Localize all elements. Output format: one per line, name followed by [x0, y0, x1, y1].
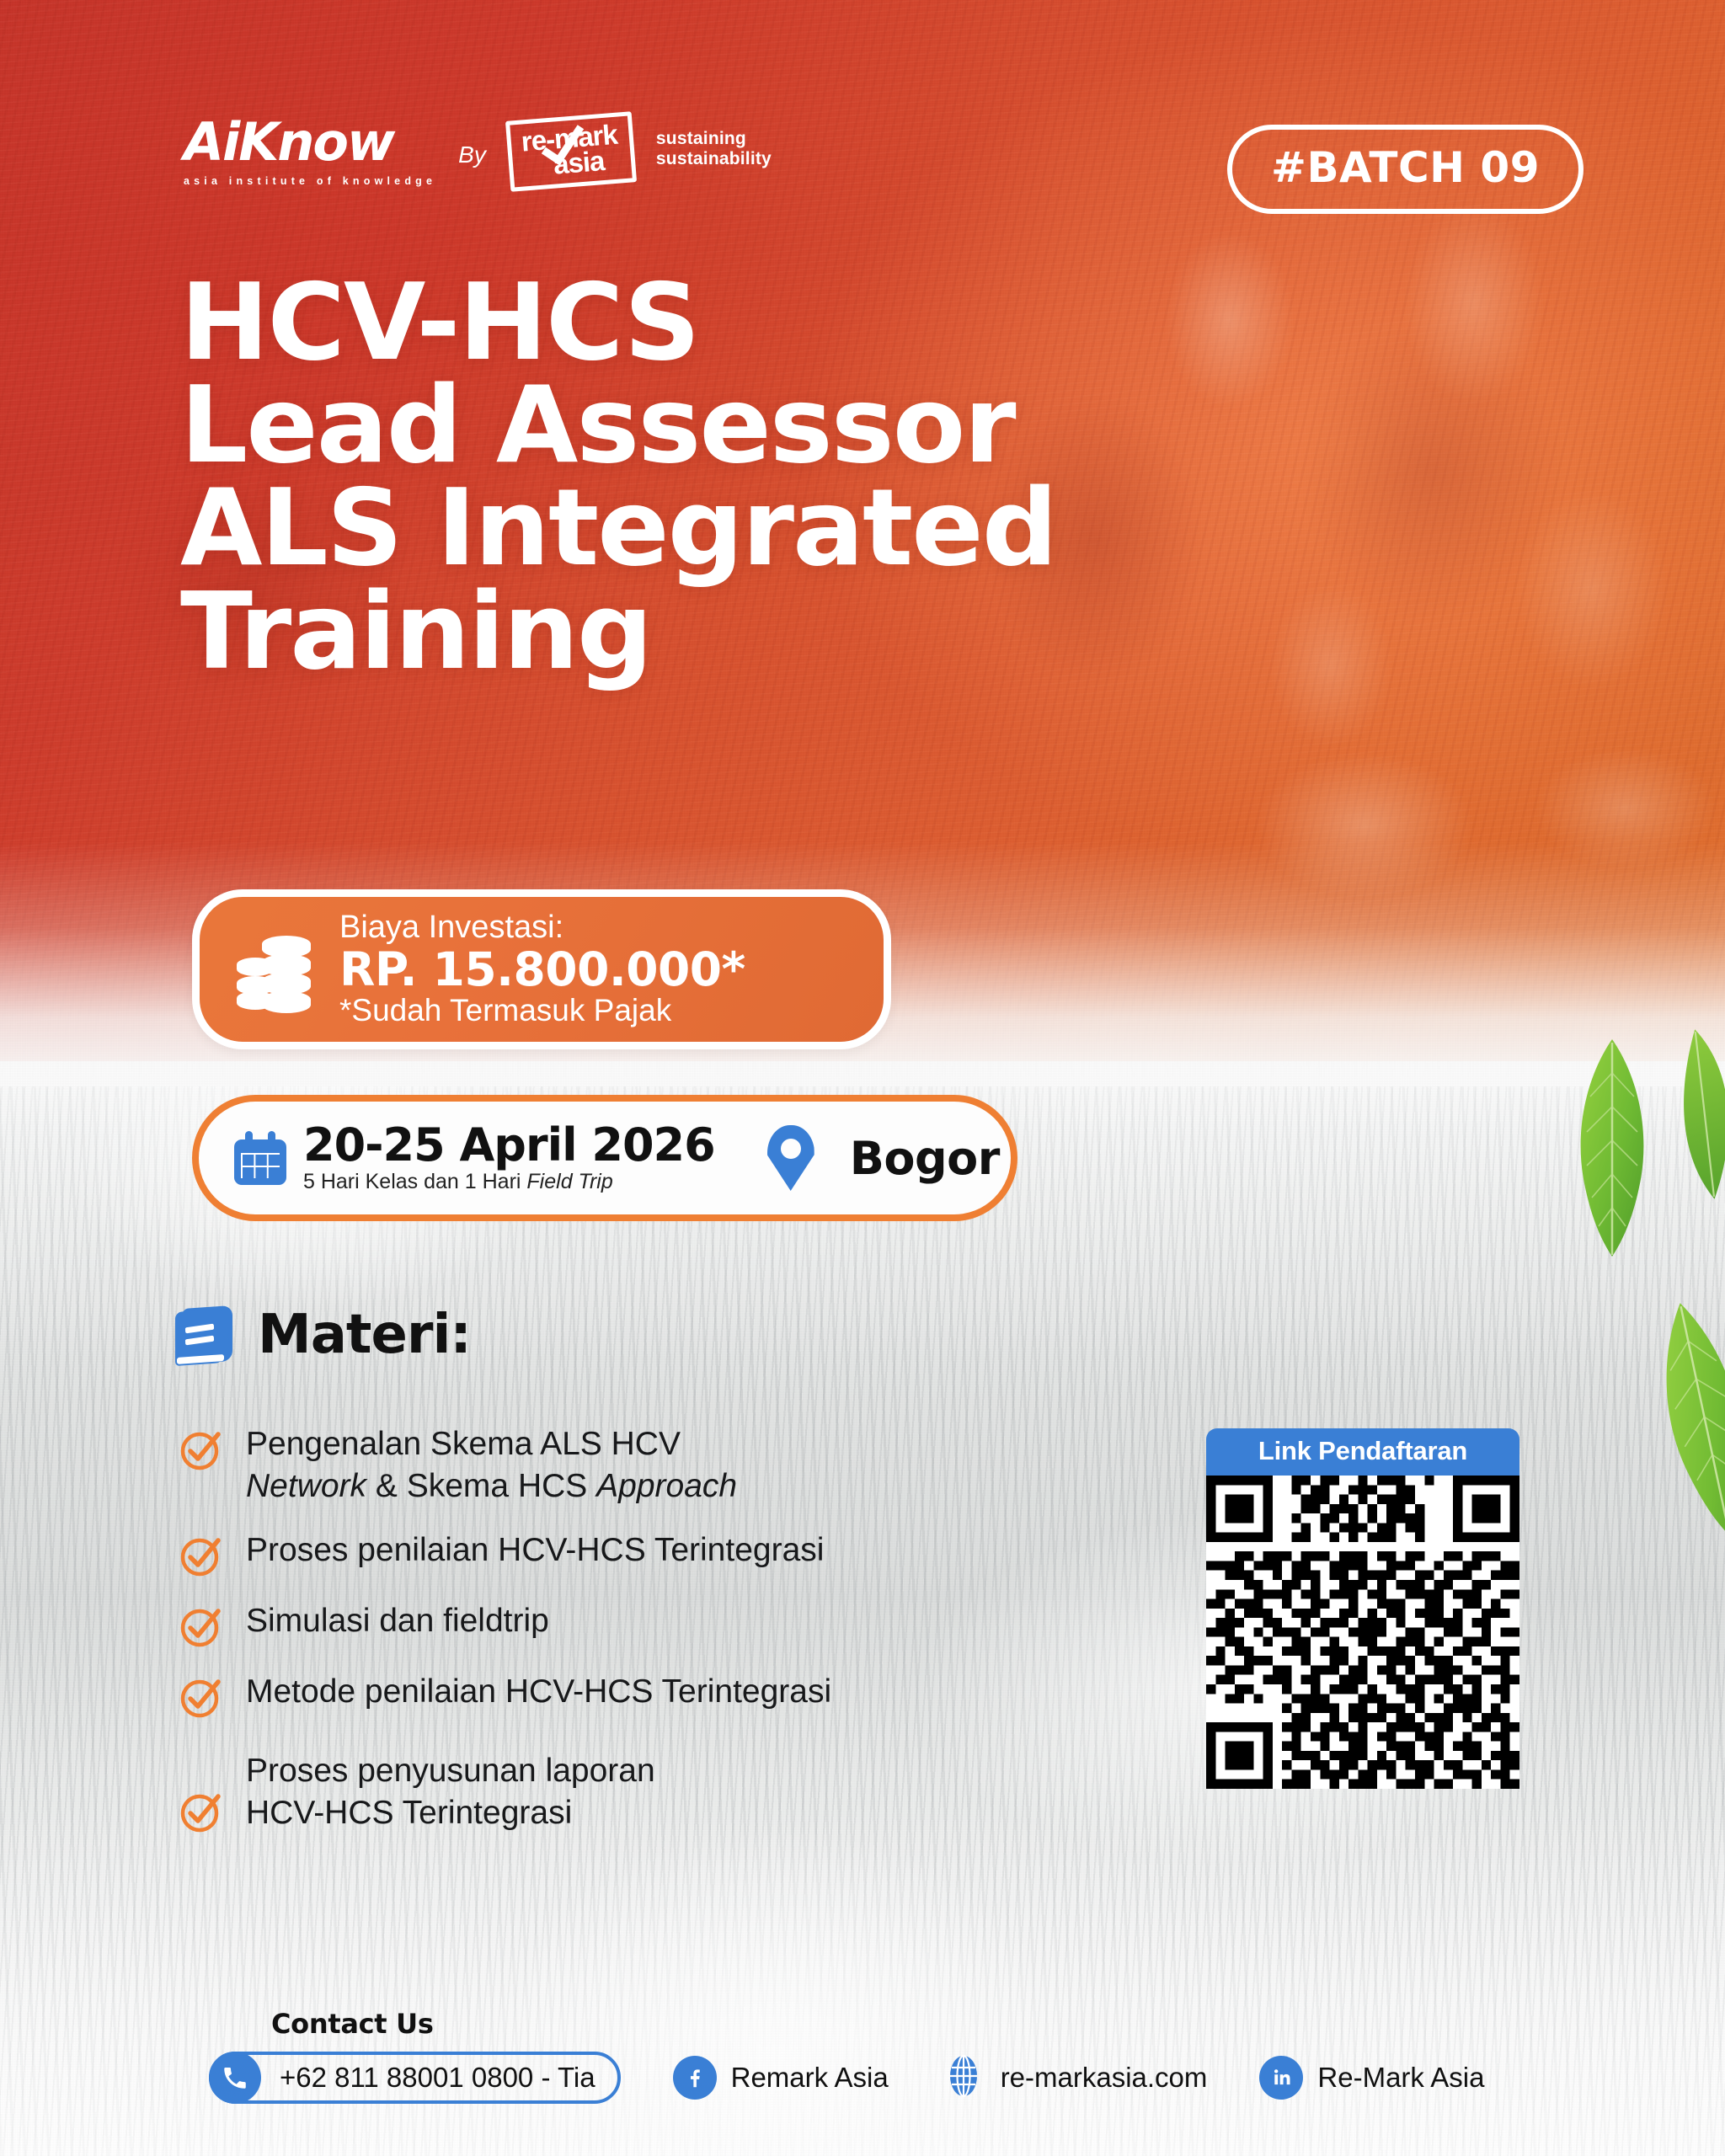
list-item-label: Metode penilaian HCV-HCS Terintegrasi	[246, 1671, 831, 1713]
batch-badge: #BATCH 09	[1227, 125, 1583, 214]
price-pill: Biaya Investasi: RP. 15.800.000* *Sudah …	[192, 889, 891, 1049]
registration-qr-block[interactable]: Link Pendaftaran	[1206, 1428, 1519, 1789]
linkedin-handle: Re-Mark Asia	[1317, 2062, 1484, 2094]
list-item: Proses penyusunan laporan HCV-HCS Terint…	[179, 1750, 1130, 1834]
schedule-text-block: 20-25 April 2026 5 Hari Kelas dan 1 Hari…	[303, 1122, 715, 1194]
facebook-icon	[673, 2056, 717, 2100]
price-amount: RP. 15.800.000*	[339, 945, 745, 994]
price-text-block: Biaya Investasi: RP. 15.800.000* *Sudah …	[339, 910, 745, 1027]
aiknow-wordmark: AiKnow	[184, 116, 436, 168]
contact-row: +62 811 88001 0800 - Tia Remark Asia re	[209, 2052, 1484, 2104]
check-circle-icon	[179, 1605, 222, 1649]
title-line-3: ALS Integrated	[180, 477, 1056, 579]
materi-heading: Materi:	[258, 1304, 471, 1366]
list-item-label: Proses penyusunan laporan HCV-HCS Terint…	[246, 1750, 655, 1834]
price-label: Biaya Investasi:	[339, 910, 745, 944]
page-title: HCV-HCS Lead Assessor ALS Integrated Tra…	[180, 271, 1056, 683]
check-circle-icon	[179, 1534, 222, 1578]
check-circle-icon	[179, 1428, 222, 1472]
globe-icon	[941, 2053, 986, 2103]
schedule-note-plain: 5 Hari Kelas dan 1 Hari	[303, 1170, 526, 1193]
poster-root: AiKnow asia institute of knowledge By re…	[0, 0, 1725, 2156]
list-item-label: Simulasi dan fieldtrip	[246, 1600, 549, 1642]
facebook-contact[interactable]: Remark Asia	[673, 2056, 889, 2100]
tagline-line-1: sustaining	[656, 129, 772, 149]
website-url: re-markasia.com	[1001, 2062, 1208, 2094]
item-text-a: Pengenalan Skema ALS HCV	[246, 1426, 681, 1462]
schedule-city: Bogor	[850, 1132, 1000, 1185]
item-text-b: Network	[246, 1468, 366, 1504]
remark-asia-logo: re-mark asia	[505, 111, 637, 191]
title-line-2: Lead Assessor	[180, 374, 1056, 477]
title-line-1: HCV-HCS	[180, 271, 1056, 374]
schedule-note: 5 Hari Kelas dan 1 Hari Field Trip	[303, 1170, 715, 1194]
check-circle-icon	[179, 1790, 222, 1834]
facebook-handle: Remark Asia	[731, 2062, 889, 2094]
list-item: Proses penilaian HCV-HCS Terintegrasi	[179, 1529, 1130, 1578]
registration-qr-code[interactable]	[1206, 1476, 1519, 1789]
aiknow-tagline: asia institute of knowledge	[184, 175, 436, 187]
item-text-c: & Skema HCS	[366, 1468, 596, 1504]
linkedin-contact[interactable]: Re-Mark Asia	[1259, 2056, 1484, 2100]
linkedin-icon	[1259, 2056, 1303, 2100]
check-circle-icon	[179, 1676, 222, 1720]
tagline-line-2: sustainability	[656, 149, 772, 169]
schedule-date: 20-25 April 2026	[303, 1122, 715, 1168]
brand-logo-row: AiKnow asia institute of knowledge By re…	[184, 116, 772, 187]
by-label: By	[458, 141, 486, 187]
phone-number: +62 811 88001 0800 - Tia	[280, 2062, 595, 2094]
list-item-label: Proses penilaian HCV-HCS Terintegrasi	[246, 1529, 824, 1572]
phone-icon	[209, 2052, 261, 2104]
list-item-label: Pengenalan Skema ALS HCV Network & Skema…	[246, 1423, 737, 1508]
materi-list: Pengenalan Skema ALS HCV Network & Skema…	[179, 1423, 1130, 1856]
coins-icon	[237, 929, 318, 1010]
list-item: Pengenalan Skema ALS HCV Network & Skema…	[179, 1423, 1130, 1508]
materi-heading-row: Materi:	[174, 1304, 471, 1366]
title-line-4: Training	[180, 580, 1056, 683]
remark-asia-tagline: sustaining sustainability	[656, 129, 772, 173]
book-icon	[174, 1304, 236, 1366]
calendar-icon	[234, 1131, 286, 1185]
contact-heading: Contact Us	[271, 2008, 434, 2040]
list-item: Simulasi dan fieldtrip	[179, 1600, 1130, 1649]
registration-label: Link Pendaftaran	[1206, 1428, 1519, 1476]
item-text-d: Approach	[596, 1468, 737, 1504]
map-pin-icon	[767, 1125, 814, 1191]
aiknow-logo: AiKnow asia institute of knowledge	[184, 116, 436, 187]
schedule-note-italic: Field Trip	[526, 1170, 612, 1193]
website-contact[interactable]: re-markasia.com	[941, 2053, 1208, 2103]
schedule-pill: 20-25 April 2026 5 Hari Kelas dan 1 Hari…	[192, 1095, 1017, 1221]
price-note: *Sudah Termasuk Pajak	[339, 994, 745, 1028]
list-item: Metode penilaian HCV-HCS Terintegrasi	[179, 1671, 1130, 1720]
phone-contact[interactable]: +62 811 88001 0800 - Tia	[209, 2052, 621, 2104]
